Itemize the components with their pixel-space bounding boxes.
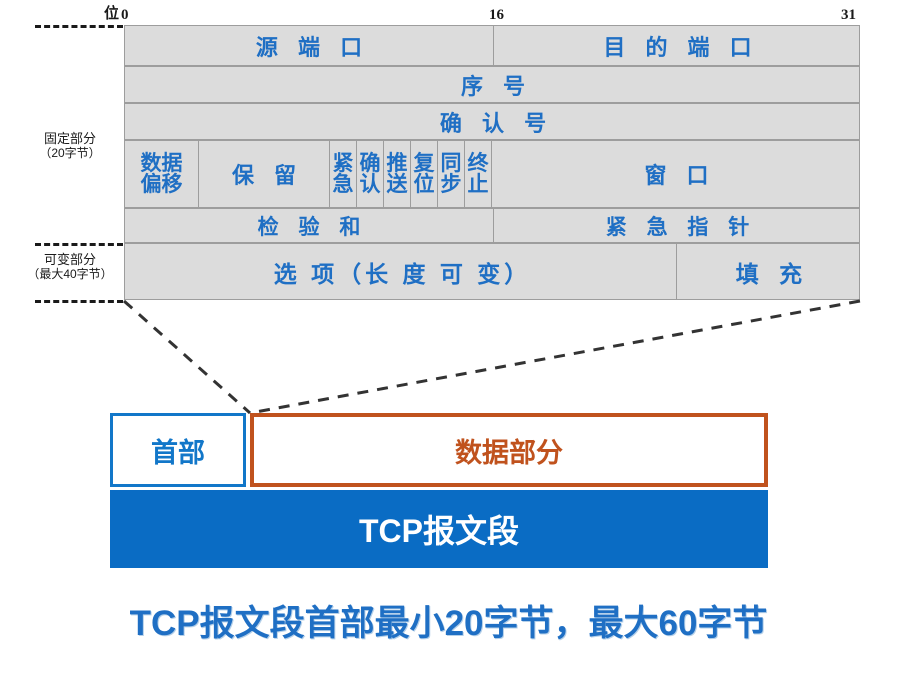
- tcp-segment-diagram: 位 0 16 31 固定部分 （20字节） 可变部分 （最大40字节） 源 端 …: [0, 0, 897, 680]
- connector-left-dashed-line: [124, 301, 250, 413]
- segment-header-box: 首部: [110, 413, 246, 487]
- zoom-connector-lines: [0, 0, 897, 680]
- page-caption: TCP报文段首部最小20字节，最大60字节: [0, 595, 897, 646]
- segment-data-box: 数据部分: [250, 413, 768, 487]
- connector-right-dashed-line: [250, 301, 860, 413]
- segment-whole-bar: TCP报文段: [110, 490, 768, 568]
